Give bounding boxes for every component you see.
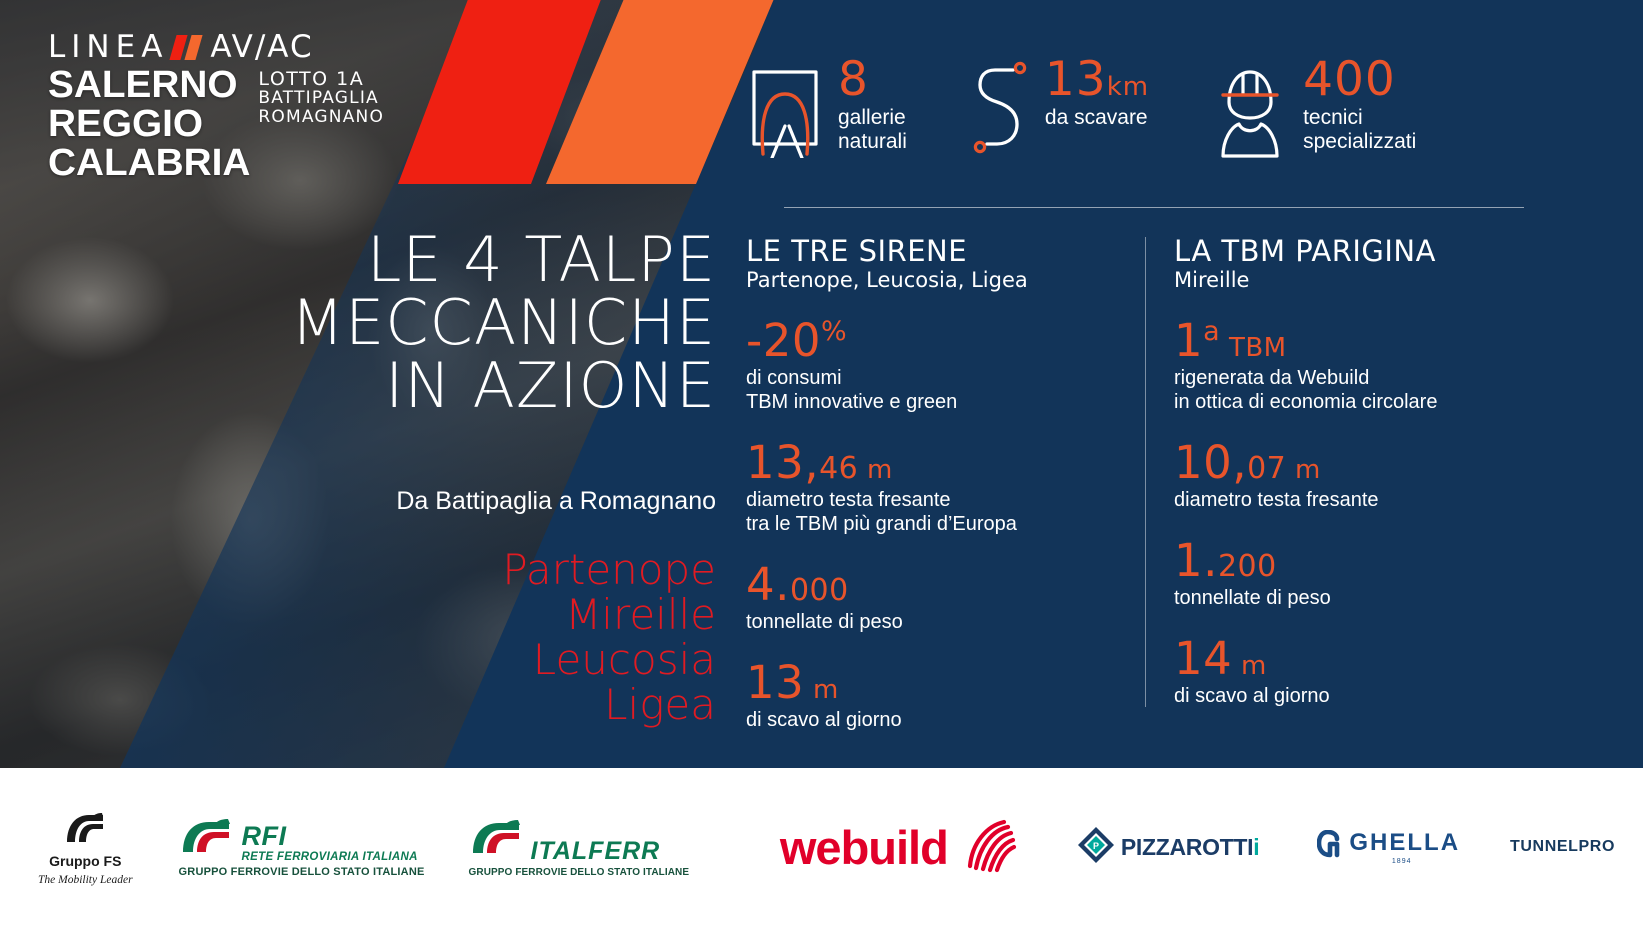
gruppo-fs-name: Gruppo FS xyxy=(38,853,133,869)
logo-lotto-block: LOTTO 1A BATTIPAGLIA ROMAGNANO xyxy=(258,69,384,126)
fact-label-piu-grandi: tra le TBM più grandi d’Europa xyxy=(746,512,1126,536)
horizontal-divider xyxy=(784,207,1524,208)
fact-scavo-mireille: 14 m di scavo al giorno xyxy=(1174,636,1574,708)
fact-number: 13, xyxy=(746,436,819,489)
fact-value-1200: 1.200 xyxy=(1174,538,1574,583)
stat-text-km: 13km da scavare xyxy=(1045,58,1149,130)
fact-label-scavo-giorno: di scavo al giorno xyxy=(1174,684,1574,708)
fact-value-1a-tbm: 1a TBM xyxy=(1174,318,1574,363)
fact-peso-sirene: 4.000 tonnellate di peso xyxy=(746,562,1126,634)
rfi-abbr: RFI xyxy=(242,824,418,850)
top-stats-bar: 8 gallerie naturali xyxy=(746,58,1536,178)
logo-bottom-row: SALERNO REGGIO CALABRIA LOTTO 1A BATTIPA… xyxy=(48,66,378,182)
rfi-wordmark: RFI RETE FERROVIARIA ITALIANA xyxy=(242,824,418,863)
headline-line-1: LE 4 TALPE xyxy=(0,228,716,291)
rfi-top-row: RFI RETE FERROVIARIA ITALIANA xyxy=(179,816,425,863)
stat-text-tecnici: 400 tecnici specializzati xyxy=(1303,58,1416,153)
webuild-swirl-icon xyxy=(956,814,1018,881)
logo-ghella[interactable]: GHELLA 1894 xyxy=(1317,829,1460,865)
column-la-tbm-parigina: LA TBM PARIGINA Mireille 1a TBM rigenera… xyxy=(1174,236,1574,708)
logo-avac-text: AV/AC xyxy=(210,32,313,63)
italferr-fs-mark-icon xyxy=(469,817,525,864)
fact-decimals: 200 xyxy=(1218,549,1277,584)
fact-unit-label: m xyxy=(1295,455,1321,485)
logo-lotto-number: LOTTO 1A xyxy=(258,69,384,89)
pizzarotti-text: PIZZAROTTI xyxy=(1121,834,1253,860)
route-icon xyxy=(969,58,1031,167)
fact-label-diametro: diametro testa fresante xyxy=(746,488,1126,512)
fact-diametro-mireille: 10,07 m diametro testa fresante xyxy=(1174,440,1574,512)
fact-consumi: -20% di consumi TBM innovative e green xyxy=(746,318,1126,414)
ghella-wordmark: GHELLA 1894 xyxy=(1343,829,1460,865)
fact-prima-tbm: 1a TBM rigenerata da Webuild in ottica d… xyxy=(1174,318,1574,414)
fact-label-tonnellate: tonnellate di peso xyxy=(1174,586,1574,610)
vertical-divider xyxy=(1145,237,1146,707)
fact-number: -20 xyxy=(746,314,821,367)
tunnel-icon xyxy=(746,58,824,163)
footer-logo-bar: Gruppo FS The Mobility Leader RFI RETE F xyxy=(0,768,1643,926)
column-title-tre-sirene: LE TRE SIRENE xyxy=(746,236,1126,266)
fact-number: 1 xyxy=(1174,314,1203,367)
fact-unit-label: m xyxy=(867,455,893,485)
stat-caption-tecnici: tecnici xyxy=(1303,106,1416,130)
fact-label-economia-circolare: in ottica di economia circolare xyxy=(1174,390,1574,414)
pizzarotti-dot-icon: i xyxy=(1253,834,1259,860)
logo-pizzarotti[interactable]: P PIZZAROTTIi xyxy=(1076,825,1260,870)
fact-value-4000: 4.000 xyxy=(746,562,1126,607)
logo-tunnelpro[interactable]: TUNNELPRO xyxy=(1510,838,1615,856)
fact-number: 13 xyxy=(746,656,804,709)
pizzarotti-diamond-icon: P xyxy=(1076,825,1116,870)
headline-subtitle: Da Battipaglia a Romagnano xyxy=(0,487,716,516)
logo-slash-icon xyxy=(173,35,203,60)
fact-number: 1. xyxy=(1174,534,1218,587)
logo-rfi[interactable]: RFI RETE FERROVIARIA ITALIANA GRUPPO FER… xyxy=(179,816,425,878)
tbm-names-list: Partenope Mireille Leucosia Ligea xyxy=(0,548,716,728)
fact-space xyxy=(1232,651,1241,681)
fact-label-rigenerata: rigenerata da Webuild xyxy=(1174,366,1574,390)
fs-monogram-icon xyxy=(38,809,133,847)
rfi-fs-mark-icon xyxy=(179,816,235,863)
footer-left-logos: Gruppo FS The Mobility Leader RFI RETE F xyxy=(38,768,689,926)
stat-caption-naturali: naturali xyxy=(838,130,907,154)
stat-caption-gallerie: gallerie xyxy=(838,106,907,130)
stat-number-8: 8 xyxy=(838,58,907,101)
fact-space xyxy=(804,675,813,705)
stat-caption-specializzati: specializzati xyxy=(1303,130,1416,154)
fact-space xyxy=(1286,455,1295,485)
fact-value-14m: 14 m xyxy=(1174,636,1574,681)
logo-webuild[interactable]: webuild xyxy=(780,814,1018,881)
fact-label-di-consumi: di consumi xyxy=(746,366,1126,390)
project-logo-lockup: LINEA AV/AC SALERNO REGGIO CALABRIA LOTT… xyxy=(48,30,378,182)
hero-section: LINEA AV/AC SALERNO REGGIO CALABRIA LOTT… xyxy=(0,0,1643,768)
logo-city-salerno: SALERNO xyxy=(48,66,250,105)
stat-km-da-scavare: 13km da scavare xyxy=(969,58,1149,178)
fact-unit-label: m xyxy=(813,675,839,705)
column-subtitle-tre-sirene: Partenope, Leucosia, Ligea xyxy=(746,268,1126,292)
svg-text:P: P xyxy=(1093,841,1099,851)
headline-line-2: MECCANICHE xyxy=(0,291,716,354)
stat-caption-da-scavare: da scavare xyxy=(1045,106,1149,130)
fact-suffix-ordinal: a xyxy=(1203,316,1220,347)
logo-top-row: LINEA AV/AC xyxy=(48,30,378,64)
fact-value-1346m: 13,46 m xyxy=(746,440,1126,485)
fact-scavo-sirene: 13 m di scavo al giorno xyxy=(746,660,1126,732)
fact-label-tonnellate: tonnellate di peso xyxy=(746,610,1126,634)
fact-number: 4. xyxy=(746,558,790,611)
stat-text-gallerie: 8 gallerie naturali xyxy=(838,58,907,153)
fact-decimals: 46 xyxy=(819,451,858,486)
fact-space xyxy=(1220,333,1229,363)
fact-number: 10, xyxy=(1174,436,1247,489)
fact-value-13m: 13 m xyxy=(746,660,1126,705)
infographic-poster: LINEA AV/AC SALERNO REGGIO CALABRIA LOTT… xyxy=(0,0,1643,926)
fact-label-diametro: diametro testa fresante xyxy=(1174,488,1574,512)
footer-right-logos: webuild xyxy=(780,768,1615,926)
fact-unit-label: m xyxy=(1241,651,1267,681)
italferr-wordmark: ITALFERR xyxy=(531,840,661,864)
stat-number-13km: 13km xyxy=(1045,58,1149,101)
tbm-name-partenope: Partenope xyxy=(0,548,716,593)
column-le-tre-sirene: LE TRE SIRENE Partenope, Leucosia, Ligea… xyxy=(746,236,1126,732)
stat-number-400: 400 xyxy=(1303,58,1416,101)
ghella-year: 1894 xyxy=(1343,858,1460,865)
logo-city-reggio-calabria: REGGIO CALABRIA xyxy=(48,105,250,183)
stat-tecnici-specializzati: 400 tecnici specializzati xyxy=(1211,58,1416,178)
logo-lotto-to: ROMAGNANO xyxy=(258,108,384,126)
ghella-name: GHELLA xyxy=(1349,829,1460,856)
logo-linea-text: LINEA xyxy=(48,32,168,63)
ghella-mark-icon xyxy=(1317,830,1343,865)
fact-diametro-sirene: 13,46 m diametro testa fresante tra le T… xyxy=(746,440,1126,536)
fact-value-1007m: 10,07 m xyxy=(1174,440,1574,485)
fact-label-scavo-giorno: di scavo al giorno xyxy=(746,708,1126,732)
fact-unit-m xyxy=(858,455,867,485)
tbm-name-mireille: Mireille xyxy=(0,593,716,638)
logo-lotto-from: BATTIPAGLIA xyxy=(258,89,384,107)
rfi-group-line: GRUPPO FERROVIE DELLO STATO ITALIANE xyxy=(179,866,425,878)
italferr-abbr: ITALFERR xyxy=(531,840,661,864)
logo-gruppo-fs[interactable]: Gruppo FS The Mobility Leader xyxy=(38,809,133,886)
fact-label-tbm-green: TBM innovative e green xyxy=(746,390,1126,414)
fact-value-minus20: -20% xyxy=(746,318,1126,363)
pizzarotti-wordmark: PIZZAROTTIi xyxy=(1121,834,1260,861)
worker-icon xyxy=(1211,58,1289,167)
rfi-full-name: RETE FERROVIARIA ITALIANA xyxy=(242,851,418,863)
webuild-wordmark: webuild xyxy=(780,824,948,871)
headline: LE 4 TALPE MECCANICHE IN AZIONE xyxy=(0,228,716,418)
tbm-name-ligea: Ligea xyxy=(0,683,716,728)
fact-decimals: 07 xyxy=(1247,451,1286,486)
column-title-tbm-parigina: LA TBM PARIGINA xyxy=(1174,236,1574,266)
fact-decimals: 000 xyxy=(790,573,849,608)
fact-unit-tbm: TBM xyxy=(1229,333,1287,363)
fact-number: 14 xyxy=(1174,632,1232,685)
tbm-name-leucosia: Leucosia xyxy=(0,638,716,683)
gruppo-fs-tagline: The Mobility Leader xyxy=(38,874,133,886)
italferr-group-line: GRUPPO FERROVIE DELLO STATO ITALIANE xyxy=(469,867,690,878)
stat-gallerie-naturali: 8 gallerie naturali xyxy=(746,58,907,178)
fact-suffix-percent: % xyxy=(821,316,847,347)
logo-italferr[interactable]: ITALFERR GRUPPO FERROVIE DELLO STATO ITA… xyxy=(469,817,690,878)
stat-number-13: 13 xyxy=(1045,52,1107,107)
headline-line-3: IN AZIONE xyxy=(0,354,716,417)
italferr-top-row: ITALFERR xyxy=(469,817,690,864)
fact-peso-mireille: 1.200 tonnellate di peso xyxy=(1174,538,1574,610)
stat-unit-km: km xyxy=(1107,72,1149,102)
column-subtitle-mireille: Mireille xyxy=(1174,268,1574,292)
